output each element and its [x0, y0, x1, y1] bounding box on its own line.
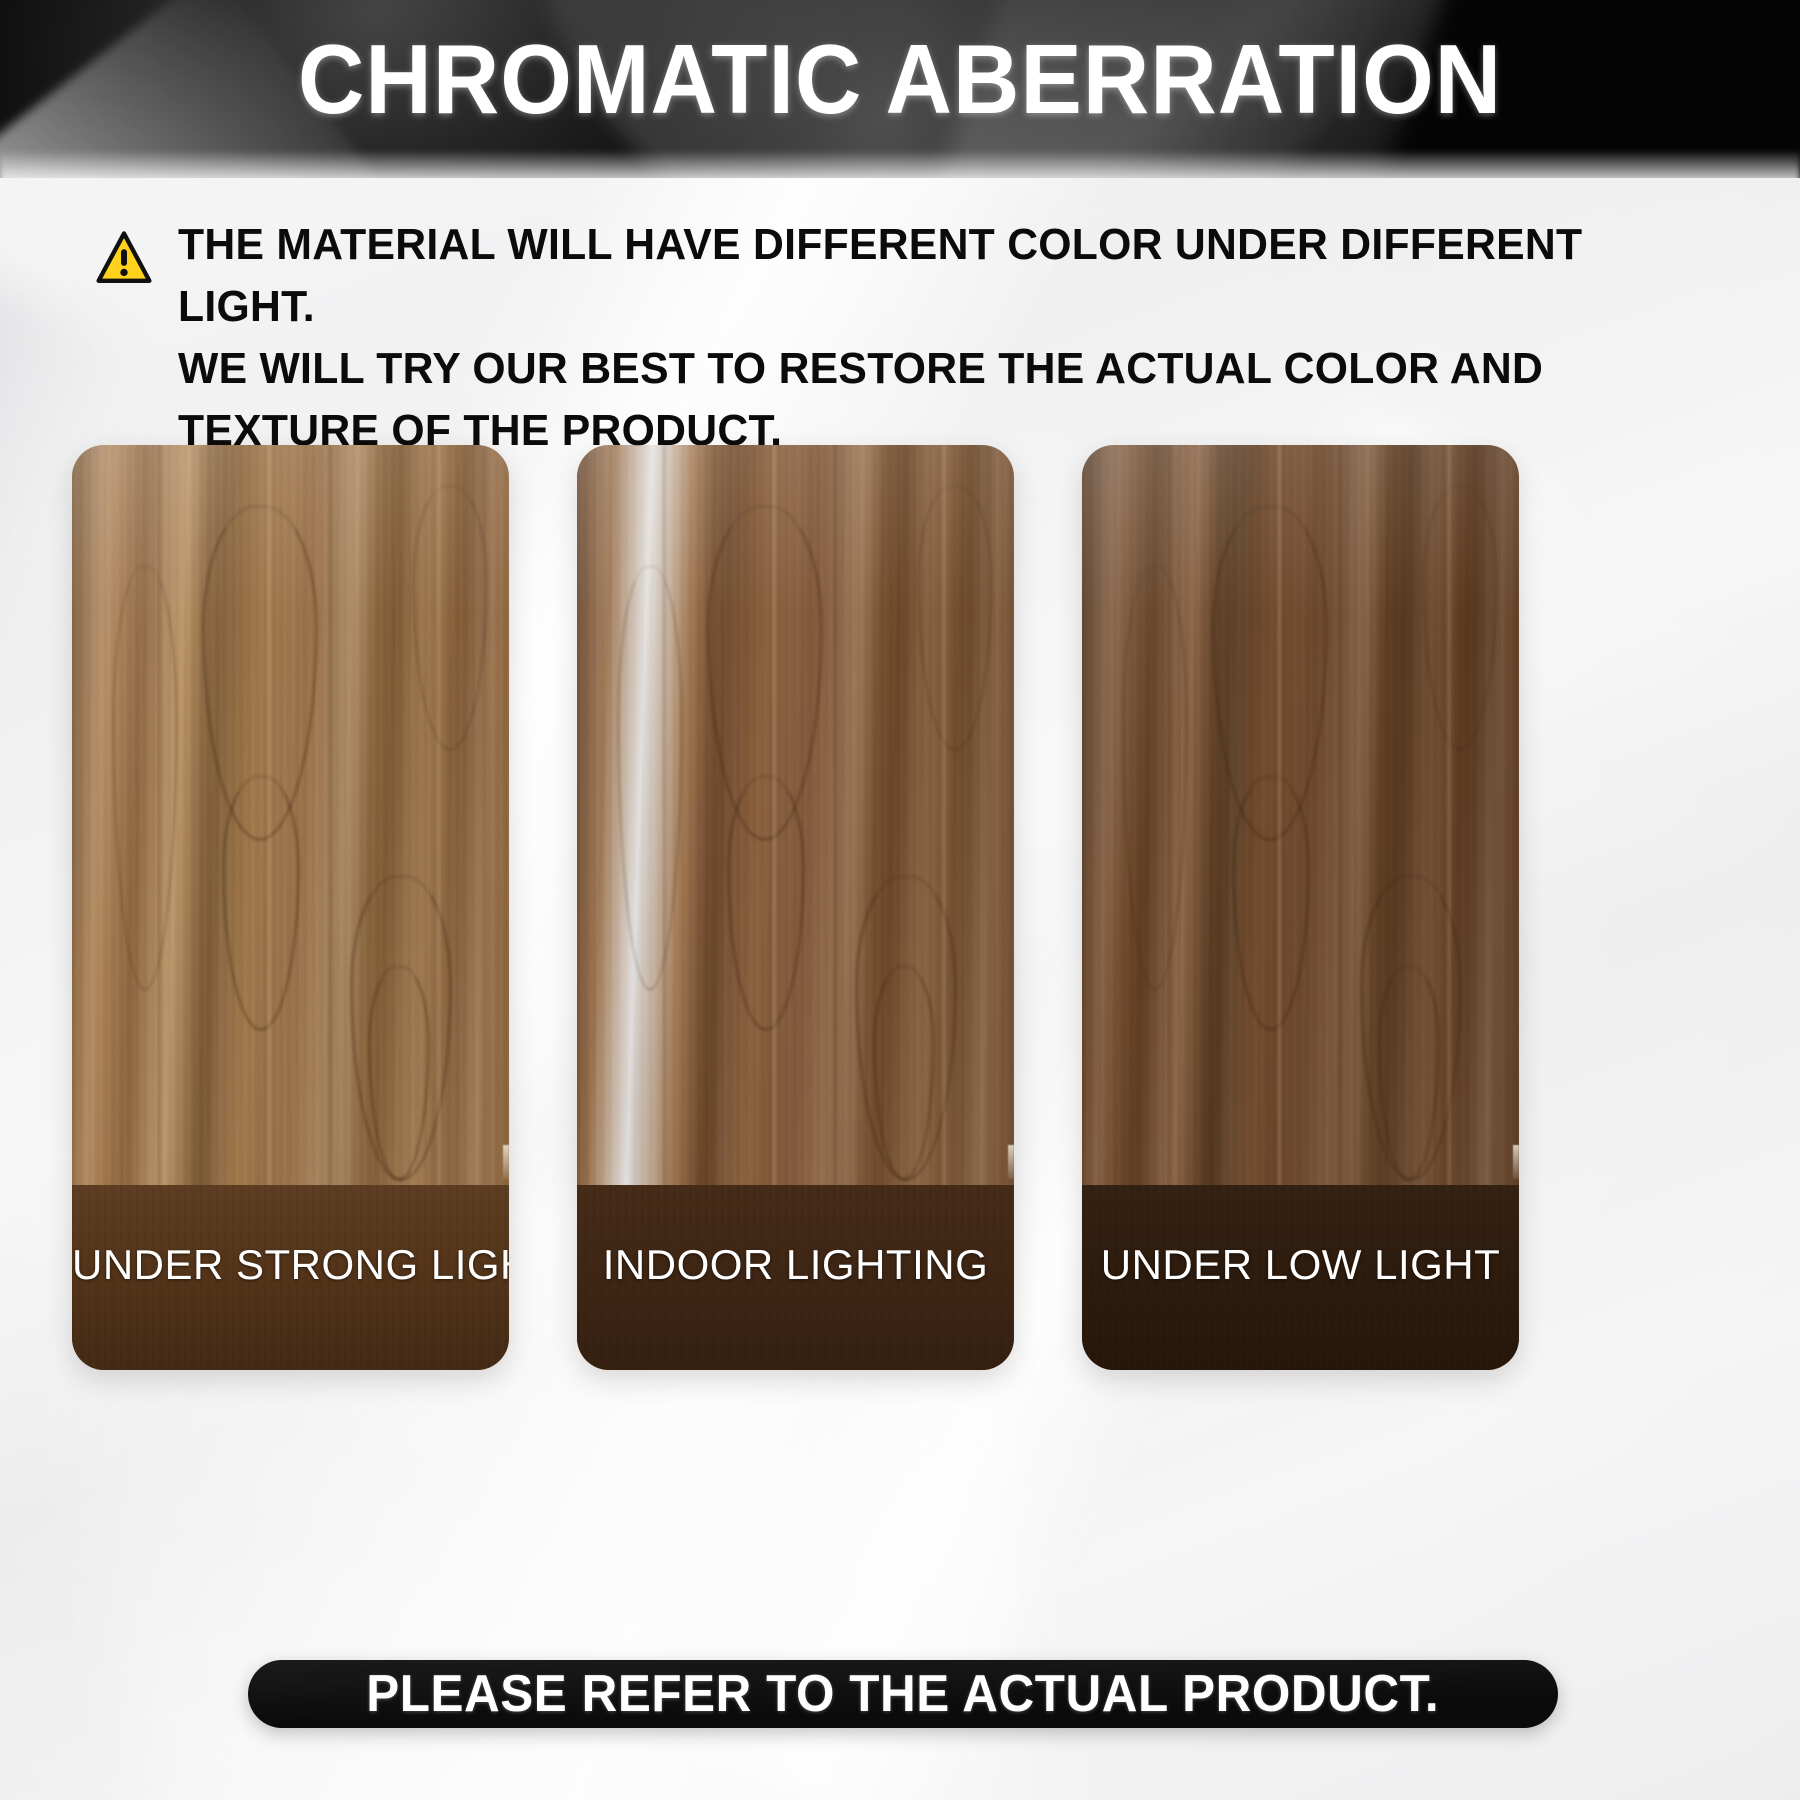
swatch-label: INDOOR LIGHTING — [577, 1241, 1014, 1289]
swatch-label: UNDER STRONG LIGHT — [72, 1241, 509, 1289]
label-band: UNDER STRONG LIGHT — [72, 1185, 509, 1370]
swatch-panel-indoor-lighting[interactable]: INDOOR LIGHTING — [577, 445, 1014, 1370]
infographic-page: CHROMATIC ABERRATION THE MATERIAL WILL H… — [0, 0, 1800, 1800]
refer-to-product-banner[interactable]: PLEASE REFER TO THE ACTUAL PRODUCT. — [248, 1660, 1558, 1728]
label-band: UNDER LOW LIGHT — [1082, 1185, 1519, 1370]
disclaimer-notice: THE MATERIAL WILL HAVE DIFFERENT COLOR U… — [96, 214, 1656, 462]
label-band: INDOOR LIGHTING — [577, 1185, 1014, 1370]
page-title: CHROMATIC ABERRATION — [54, 20, 1746, 138]
header-banner: CHROMATIC ABERRATION — [0, 0, 1800, 178]
swatch-panel-low-light[interactable]: UNDER LOW LIGHT — [1082, 445, 1519, 1370]
swatch-label: UNDER LOW LIGHT — [1082, 1241, 1519, 1289]
cta-label: PLEASE REFER TO THE ACTUAL PRODUCT. — [367, 1664, 1440, 1724]
panel-seam-nick — [503, 1145, 509, 1179]
disclaimer-text: THE MATERIAL WILL HAVE DIFFERENT COLOR U… — [178, 214, 1612, 462]
warning-triangle-icon — [96, 230, 152, 286]
header-bottom-fade — [0, 150, 1800, 178]
panel-seam-nick — [1513, 1145, 1519, 1179]
swatch-panel-strong-light[interactable]: UNDER STRONG LIGHT — [72, 445, 509, 1370]
swatch-panel-group: UNDER STRONG LIGHT — [72, 445, 1728, 1370]
panel-seam-nick — [1008, 1145, 1014, 1179]
